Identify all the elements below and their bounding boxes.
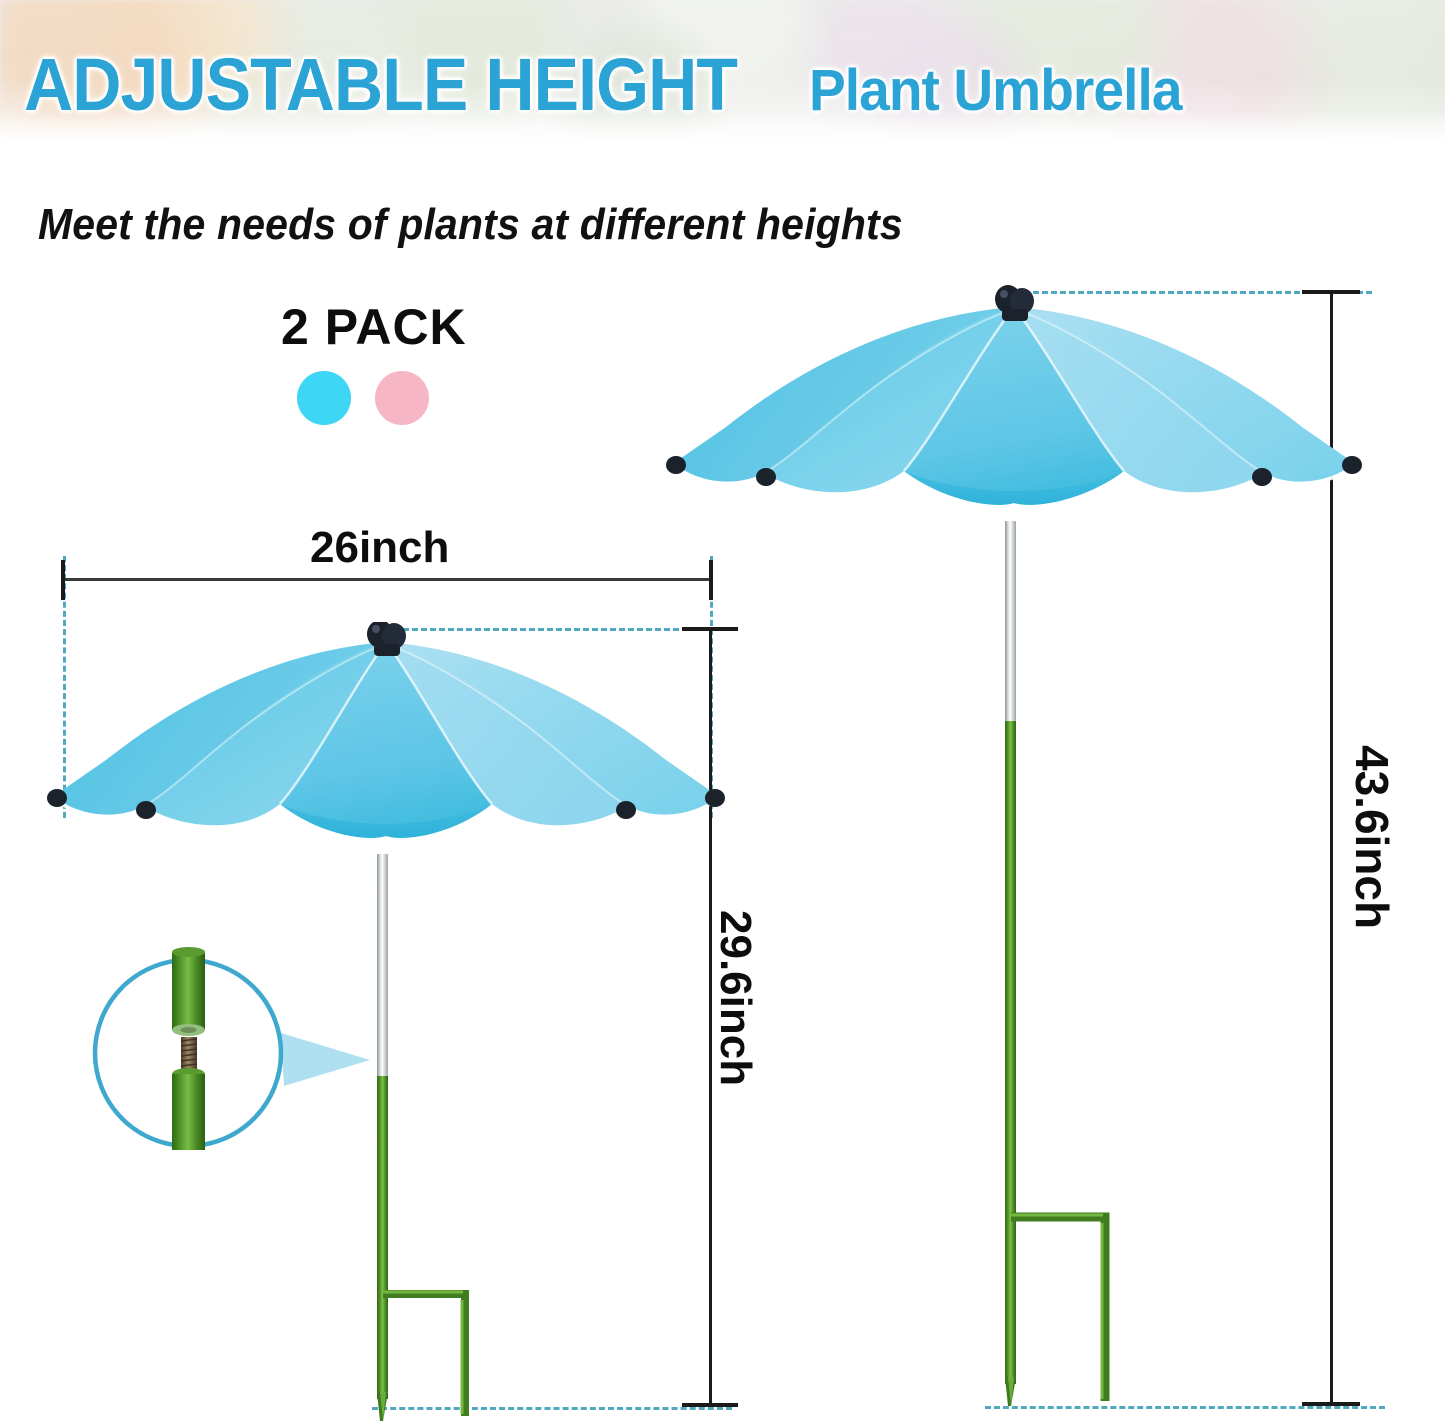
- width-dimension-cap-right: [709, 560, 713, 600]
- tall-bottom-guide-dash: [985, 1406, 1385, 1409]
- short-height-label: 29.6inch: [710, 910, 760, 1086]
- header-banner: ADJUSTABLE HEIGHTPlant Umbrella: [0, 0, 1445, 145]
- callout-upper-pole-section: [172, 947, 205, 1036]
- callout-graphic: [88, 938, 388, 1168]
- page-title: ADJUSTABLE HEIGHTPlant Umbrella: [24, 48, 1201, 122]
- title-secondary: Plant Umbrella: [809, 62, 1182, 120]
- width-label: 26inch: [310, 523, 449, 573]
- callout-pointer-triangle: [281, 1033, 370, 1086]
- color-swatch-cyan[interactable]: [297, 371, 351, 425]
- pack-count-label: 2 PACK: [281, 298, 467, 356]
- short-umbrella-canopy: [46, 622, 726, 872]
- short-stake-support-bracket: [381, 1288, 476, 1420]
- callout-screw-thread: [181, 1037, 197, 1071]
- tall-height-label: 43.6inch: [1345, 745, 1399, 929]
- width-dimension-line: [63, 578, 711, 581]
- tall-umbrella-canopy: [664, 285, 1364, 545]
- callout-lower-pole-section: [172, 1068, 205, 1150]
- color-swatch-group: [297, 371, 429, 425]
- width-dimension-cap-left: [61, 560, 65, 600]
- color-swatch-pink[interactable]: [375, 371, 429, 425]
- infographic-canvas: ADJUSTABLE HEIGHTPlant Umbrella Meet the…: [0, 0, 1445, 1423]
- tall-stake-support-bracket: [1009, 1211, 1119, 1406]
- title-primary: ADJUSTABLE HEIGHT: [24, 48, 737, 122]
- adjustable-joint-callout: [88, 938, 388, 1173]
- subtitle-text: Meet the needs of plants at different he…: [38, 200, 903, 250]
- tall-umbrella-upper-pole: [1005, 521, 1016, 721]
- tall-dimension-cap-bottom: [1302, 1402, 1360, 1406]
- short-dimension-cap-bottom: [682, 1403, 738, 1407]
